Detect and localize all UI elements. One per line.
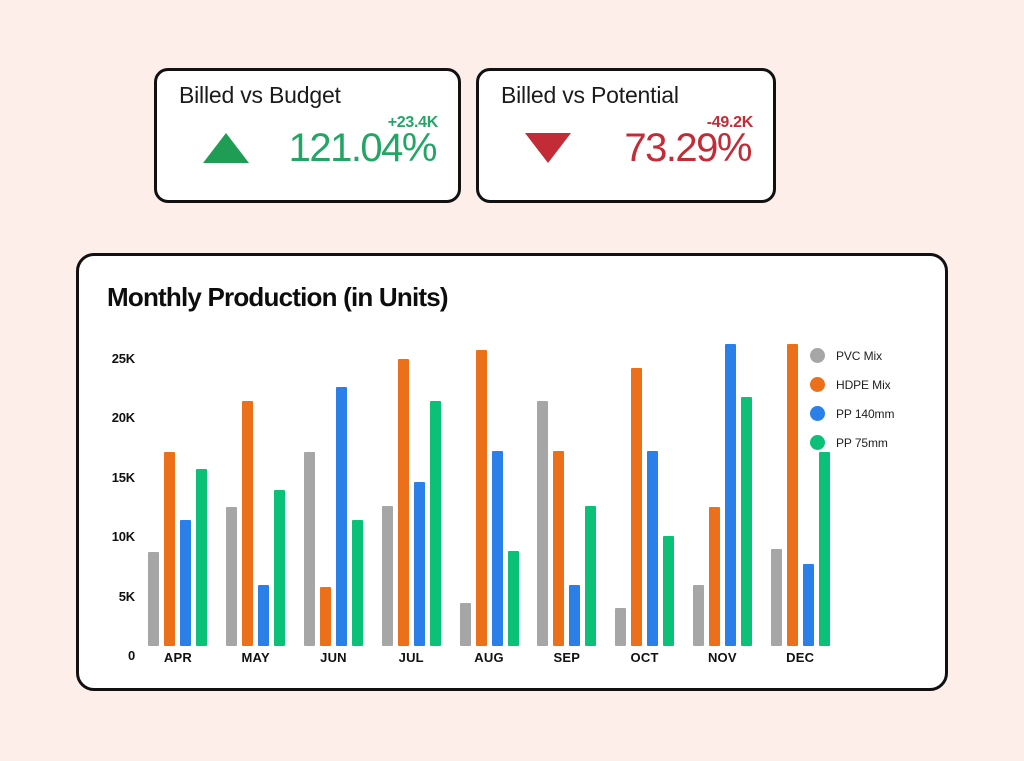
- bar[interactable]: [164, 452, 175, 646]
- bar[interactable]: [460, 603, 471, 646]
- bar[interactable]: [226, 507, 237, 646]
- x-tick-label: MAY: [217, 650, 295, 665]
- bar[interactable]: [741, 397, 752, 646]
- bar[interactable]: [304, 452, 315, 646]
- bar[interactable]: [663, 536, 674, 646]
- legend-color-dot: [810, 348, 825, 363]
- bar[interactable]: [585, 506, 596, 646]
- legend-item[interactable]: PP 140mm: [810, 406, 894, 421]
- x-tick-label: JUN: [295, 650, 373, 665]
- triangle-up-icon: [203, 133, 249, 163]
- bar-group: [606, 349, 684, 646]
- legend-label: PVC Mix: [836, 349, 882, 363]
- bar-group: [683, 349, 761, 646]
- y-tick-label: 25K: [112, 349, 135, 369]
- kpi-card-billed-vs-budget[interactable]: Billed vs Budget +23.4K 121.04%: [154, 68, 461, 203]
- legend-item[interactable]: HDPE Mix: [810, 377, 894, 392]
- kpi-title: Billed vs Budget: [179, 83, 438, 108]
- bar[interactable]: [553, 451, 564, 646]
- bar[interactable]: [336, 387, 347, 646]
- x-tick-label: OCT: [606, 650, 684, 665]
- bar[interactable]: [414, 482, 425, 646]
- legend-label: PP 140mm: [836, 407, 894, 421]
- y-tick-label: 0: [128, 646, 135, 666]
- bar[interactable]: [537, 401, 548, 646]
- bar-group: [139, 349, 217, 646]
- bar[interactable]: [196, 469, 207, 646]
- bar[interactable]: [615, 608, 626, 646]
- bar[interactable]: [709, 507, 720, 646]
- monthly-production-chart-card: Monthly Production (in Units) 05K10K15K2…: [76, 253, 948, 691]
- bar[interactable]: [771, 549, 782, 646]
- bar[interactable]: [382, 506, 393, 646]
- bar[interactable]: [647, 451, 658, 646]
- bar[interactable]: [476, 350, 487, 646]
- bar[interactable]: [148, 552, 159, 646]
- bar[interactable]: [352, 520, 363, 646]
- x-tick-label: DEC: [761, 650, 839, 665]
- legend-color-dot: [810, 435, 825, 450]
- bar-group: [217, 349, 295, 646]
- bar[interactable]: [569, 585, 580, 646]
- bar[interactable]: [242, 401, 253, 646]
- bar-groups: [139, 349, 839, 646]
- y-tick-label: 15K: [112, 468, 135, 488]
- bar[interactable]: [693, 585, 704, 646]
- legend-label: PP 75mm: [836, 436, 888, 450]
- legend-color-dot: [810, 377, 825, 392]
- y-tick-label: 10K: [112, 527, 135, 547]
- kpi-value: 121.04%: [289, 128, 436, 168]
- x-tick-label: SEP: [528, 650, 606, 665]
- kpi-value: 73.29%: [624, 128, 751, 168]
- bar-group: [295, 349, 373, 646]
- legend-item[interactable]: PVC Mix: [810, 348, 894, 363]
- bar[interactable]: [430, 401, 441, 646]
- bar-group: [450, 349, 528, 646]
- x-tick-label: AUG: [450, 650, 528, 665]
- bar-group: [528, 349, 606, 646]
- chart-title: Monthly Production (in Units): [107, 282, 448, 313]
- bar[interactable]: [508, 551, 519, 646]
- bar[interactable]: [803, 564, 814, 646]
- chart-legend: PVC MixHDPE MixPP 140mmPP 75mm: [810, 348, 894, 450]
- bar[interactable]: [180, 520, 191, 646]
- bar[interactable]: [787, 344, 798, 646]
- kpi-card-row: Billed vs Budget +23.4K 121.04% Billed v…: [154, 68, 776, 203]
- bar[interactable]: [492, 451, 503, 646]
- kpi-bottom-row: 73.29%: [501, 128, 753, 168]
- legend-item[interactable]: PP 75mm: [810, 435, 894, 450]
- x-axis-labels: APRMAYJUNJULAUGSEPOCTNOVDEC: [139, 650, 839, 665]
- bar[interactable]: [631, 368, 642, 646]
- bar[interactable]: [320, 587, 331, 646]
- bar[interactable]: [725, 344, 736, 646]
- kpi-card-billed-vs-potential[interactable]: Billed vs Potential -49.2K 73.29%: [476, 68, 776, 203]
- y-tick-label: 20K: [112, 408, 135, 428]
- bar[interactable]: [258, 585, 269, 646]
- bar-group: [372, 349, 450, 646]
- x-tick-label: NOV: [683, 650, 761, 665]
- x-tick-label: APR: [139, 650, 217, 665]
- triangle-down-icon: [525, 133, 571, 163]
- kpi-title: Billed vs Potential: [501, 83, 753, 108]
- bar[interactable]: [398, 359, 409, 646]
- x-tick-label: JUL: [372, 650, 450, 665]
- y-axis-labels: 05K10K15K20K25K: [79, 339, 135, 656]
- bar[interactable]: [819, 452, 830, 646]
- kpi-bottom-row: 121.04%: [179, 128, 438, 168]
- y-tick-label: 5K: [119, 587, 135, 607]
- bar[interactable]: [274, 490, 285, 646]
- legend-label: HDPE Mix: [836, 378, 891, 392]
- legend-color-dot: [810, 406, 825, 421]
